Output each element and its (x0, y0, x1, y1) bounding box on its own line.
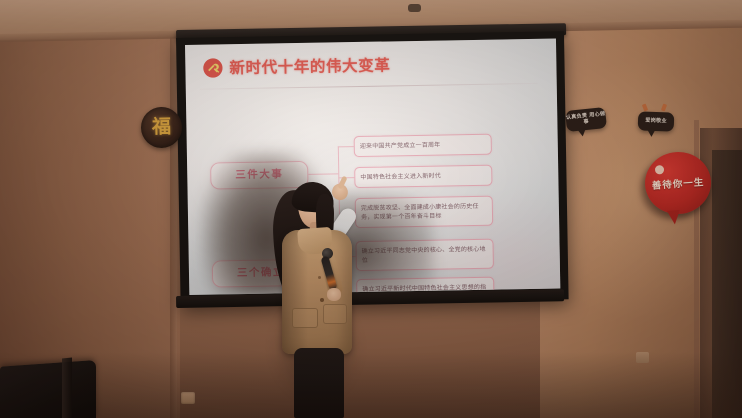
presenter-jacket-button-upper (318, 276, 321, 279)
presenter-jacket-pocket-right (323, 304, 347, 324)
floor-speaker (0, 360, 96, 418)
projection-screen-surface: 新时代十年的伟大变革 三件大事 三个确立 迎来中国共产党成立一百 (185, 39, 560, 295)
wall-power-outlet (181, 392, 195, 404)
red-speech-bubble-decoration: 善待你一生 (643, 150, 713, 216)
floor-speaker-edge (62, 357, 72, 418)
fu-character: 福 (152, 118, 171, 137)
speech-bubble-decoration-2: 爱岗敬业 (638, 111, 675, 131)
ceiling-fixture-icon (408, 4, 421, 12)
presenter (268, 182, 360, 418)
speech-bubble-1-text: 认真负责 用心做事 (565, 111, 606, 127)
presenter-jacket-pocket-left (292, 308, 318, 328)
floor-shadow (0, 352, 742, 418)
red-bubble-text: 善待你一生 (643, 150, 713, 216)
presenter-hand-holding-microphone (327, 288, 341, 301)
photo-scene: 新时代十年的伟大变革 三件大事 三个确立 迎来中国共产党成立一百 (0, 0, 742, 418)
speech-bubble-decoration-1: 认真负责 用心做事 (565, 107, 607, 132)
speech-bubble-2-text: 爱岗敬业 (645, 118, 667, 125)
wall-power-outlet-right (636, 352, 649, 363)
presenter-trousers (294, 348, 344, 418)
presenter-jacket-button-lower (320, 298, 324, 302)
